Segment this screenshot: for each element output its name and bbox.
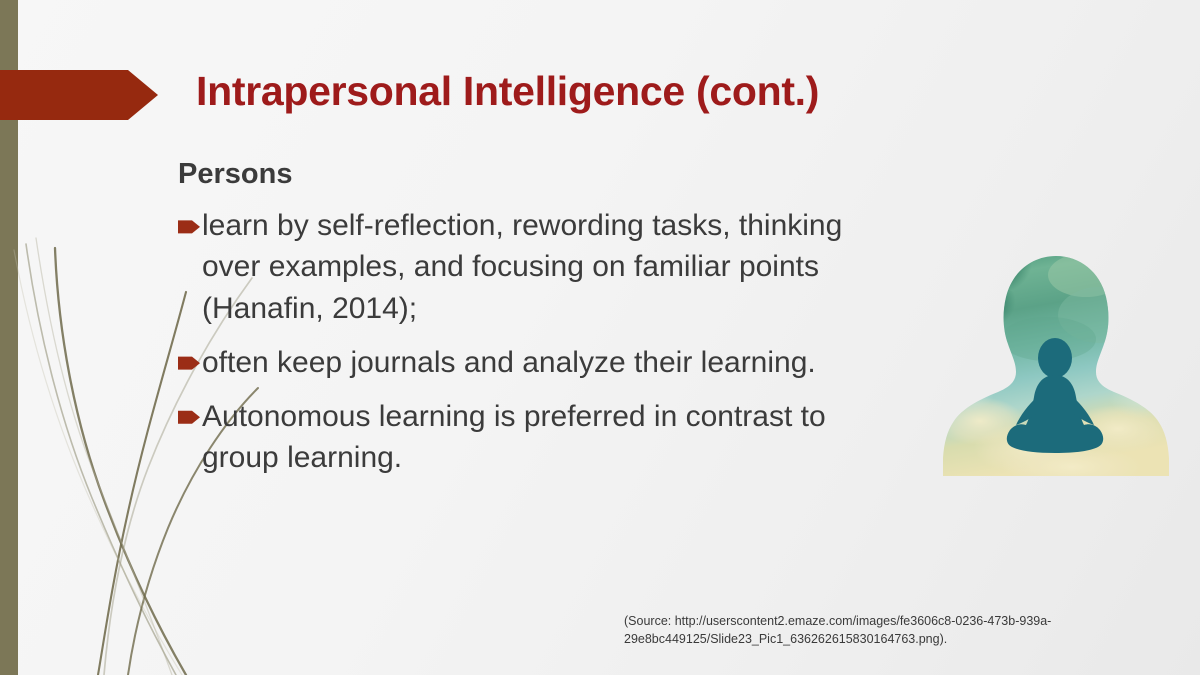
slide-body: Persons learn by self-reflection, reword… <box>178 158 923 491</box>
title-arrow-banner <box>0 70 158 120</box>
meditating-person-silhouette <box>940 253 1172 479</box>
bullet-item-2: often keep journals and analyze their le… <box>178 342 923 383</box>
source-citation: (Source: http://userscontent2.emaze.com/… <box>624 612 1154 648</box>
arrow-bullet-icon <box>178 409 200 426</box>
arrow-bullet-icon <box>178 218 200 235</box>
bullet-text: often keep journals and analyze their le… <box>202 342 816 383</box>
bullet-text: learn by self-reflection, rewording task… <box>202 205 907 328</box>
bullet-item-3: Autonomous learning is preferred in cont… <box>178 396 923 478</box>
slide-canvas: Intrapersonal Intelligence (cont.) Perso… <box>0 0 1200 675</box>
arrow-bullet-icon <box>178 355 200 372</box>
bullet-item-1: learn by self-reflection, rewording task… <box>178 205 923 328</box>
page-title: Intrapersonal Intelligence (cont.) <box>196 68 819 115</box>
persons-heading: Persons <box>178 158 923 191</box>
bullet-text: Autonomous learning is preferred in cont… <box>202 396 907 478</box>
